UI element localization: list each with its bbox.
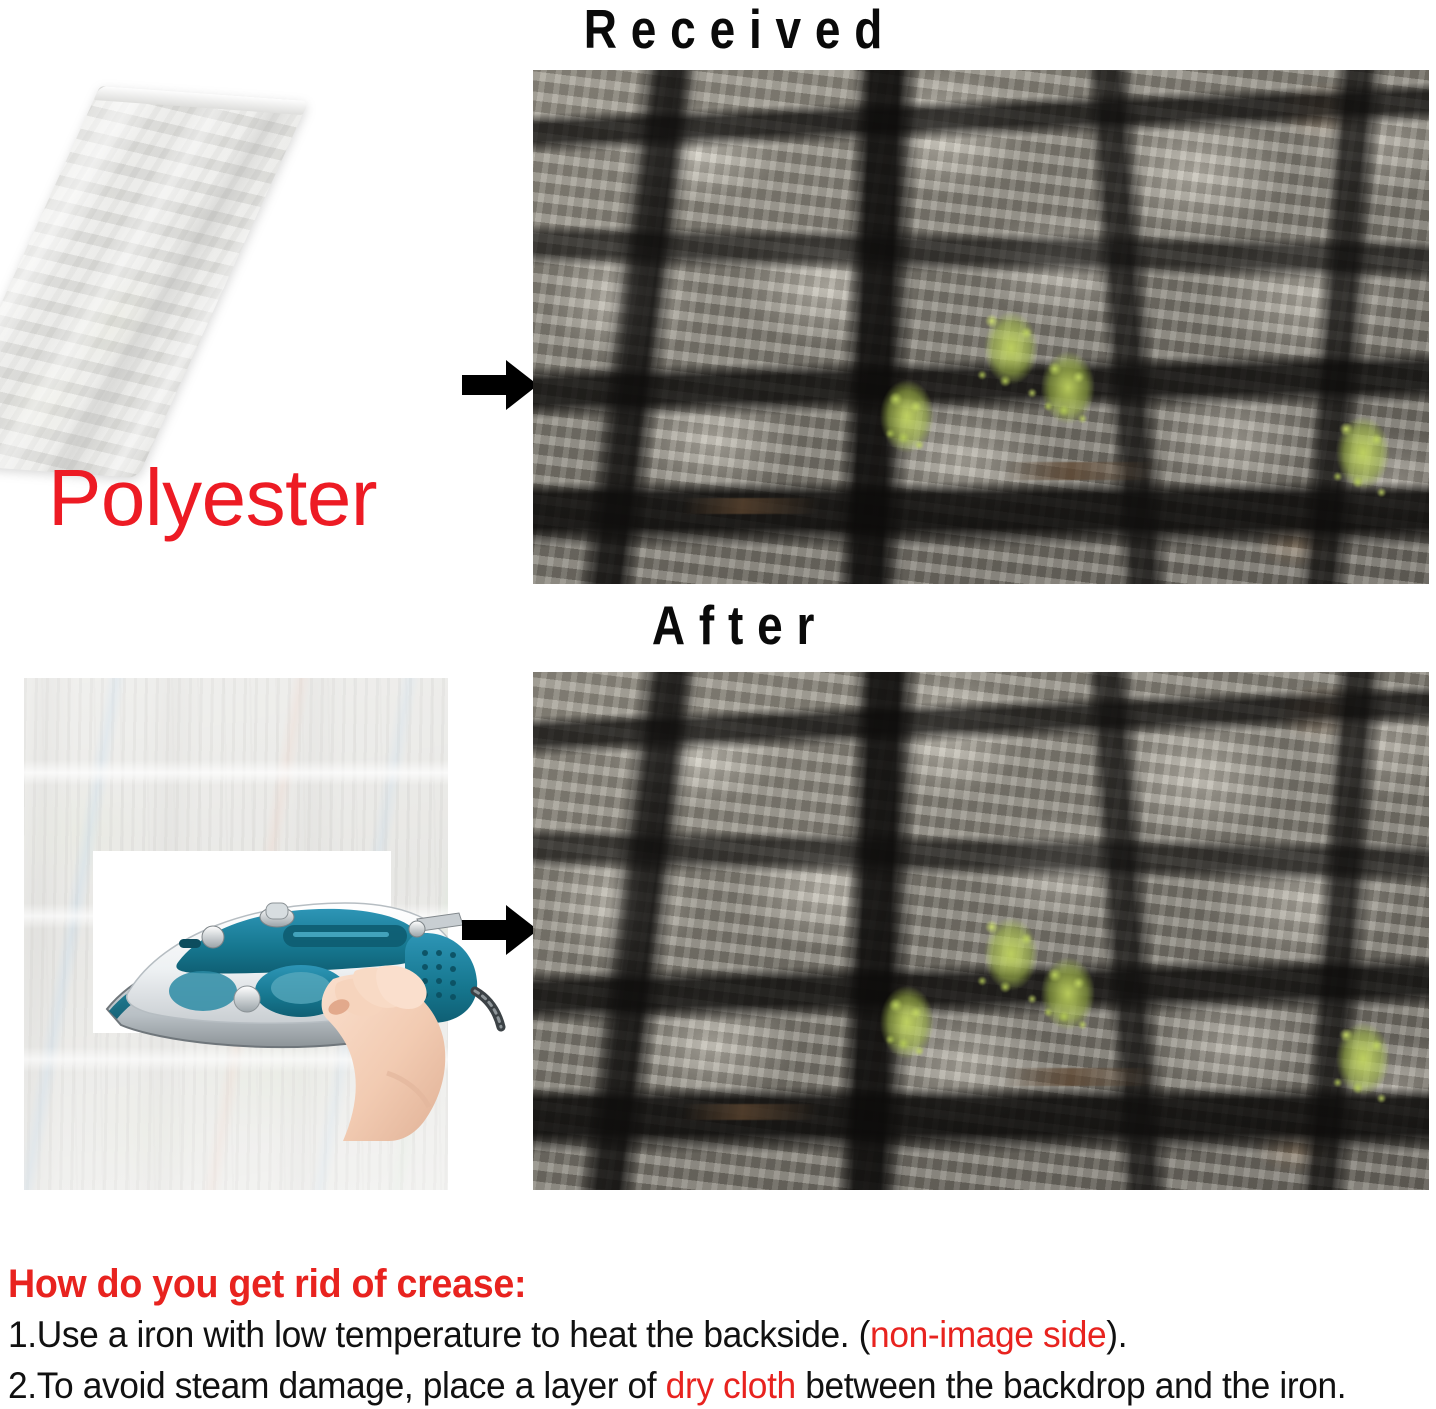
- after-section-title: After: [500, 593, 980, 657]
- after-backdrop-photo: [533, 672, 1429, 1190]
- instruction-line-1: 1.Use a iron with low temperature to hea…: [8, 1312, 1368, 1358]
- twig: [683, 498, 833, 514]
- twig: [683, 1104, 833, 1120]
- twig: [1003, 1068, 1173, 1086]
- instruction-1-highlight: non-image side: [870, 1314, 1106, 1355]
- instructions-heading: How do you get rid of crease:: [8, 1262, 1347, 1307]
- foliage-tuft: [879, 378, 935, 474]
- foliage-tuft: [879, 984, 935, 1080]
- instruction-1-suffix: ).: [1106, 1314, 1127, 1355]
- instruction-2-highlight: dry cloth: [666, 1365, 796, 1406]
- twig: [1003, 462, 1173, 480]
- instruction-line-2: 2.To avoid steam damage, place a layer o…: [8, 1363, 1368, 1409]
- material-label: Polyester: [48, 458, 377, 538]
- foliage-tuft: [1035, 346, 1101, 450]
- care-instructions: How do you get rid of crease: 1.Use a ir…: [8, 1262, 1432, 1409]
- received-section-title: Received: [500, 0, 980, 61]
- instruction-2-prefix: 2.To avoid steam damage, place a layer o…: [8, 1365, 666, 1406]
- foliage-tuft: [1035, 952, 1101, 1056]
- ironing-demo-image: [93, 851, 391, 1033]
- iron-illustration: [87, 841, 507, 1141]
- foliage-tuft: [1321, 1006, 1405, 1138]
- arrow-right-icon: [462, 903, 538, 957]
- foliage-tuft: [1321, 400, 1405, 532]
- arrow-right-icon: [462, 358, 538, 412]
- instruction-1-prefix: 1.Use a iron with low temperature to hea…: [8, 1314, 870, 1355]
- instruction-2-suffix: between the backdrop and the iron.: [796, 1365, 1346, 1406]
- polyester-swatch: [22, 86, 422, 486]
- received-backdrop-photo: [533, 70, 1429, 584]
- swatch-fabric-face: [0, 86, 309, 478]
